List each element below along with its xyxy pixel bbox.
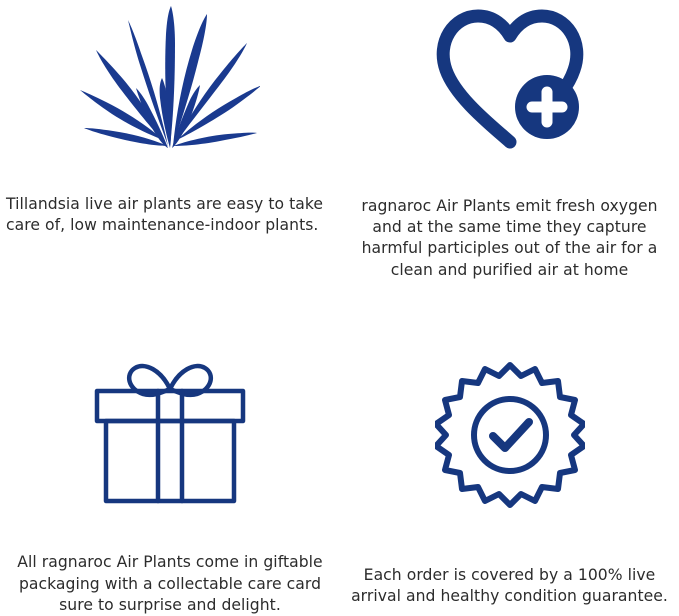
caption-line: sure to surprise and delight. [8, 595, 332, 616]
heart-plus-icon [430, 6, 590, 156]
feature-cell-giftable-packaging: All ragnaroc Air Plants come in giftable… [0, 308, 340, 616]
guarantee-badge-icon-wrap [340, 308, 679, 565]
caption-line: arrival and healthy condition guarantee. [346, 586, 673, 607]
feature-caption-air-plant-care: Tillandsia live air plants are easy to t… [0, 194, 340, 236]
feature-grid: Tillandsia live air plants are easy to t… [0, 0, 679, 616]
gift-box-icon-wrap [0, 308, 340, 552]
gift-body [106, 421, 234, 501]
feature-cell-live-arrival-guarantee: Each order is covered by a 100% live arr… [340, 308, 679, 616]
caption-line: clean and purified air at home [342, 260, 677, 281]
air-plant-icon [80, 4, 260, 154]
caption-line: harmful participles out of the air for a [342, 238, 677, 259]
caption-line: All ragnaroc Air Plants come in giftable [8, 552, 332, 573]
feature-cell-air-plant-care: Tillandsia live air plants are easy to t… [0, 0, 340, 308]
caption-line: Tillandsia live air plants are easy to t… [6, 194, 334, 215]
heart-plus-icon-wrap [340, 0, 679, 196]
rosette-outline [436, 365, 584, 505]
gift-lid [97, 391, 243, 421]
feature-cell-fresh-oxygen: ragnaroc Air Plants emit fresh oxygen an… [340, 0, 679, 308]
feature-caption-fresh-oxygen: ragnaroc Air Plants emit fresh oxygen an… [340, 196, 679, 281]
feature-caption-live-arrival-guarantee: Each order is covered by a 100% live arr… [340, 565, 679, 607]
badge-inner-circle [474, 399, 546, 471]
check-icon [493, 422, 529, 448]
gift-box-icon [87, 356, 253, 506]
guarantee-badge-icon [435, 360, 585, 510]
feature-caption-giftable-packaging: All ragnaroc Air Plants come in giftable… [0, 552, 340, 616]
caption-line: ragnaroc Air Plants emit fresh oxygen [342, 196, 677, 217]
caption-line: and at the same time they capture [342, 217, 677, 238]
caption-line: care of, low maintenance-indoor plants. [6, 215, 334, 236]
caption-line: Each order is covered by a 100% live [346, 565, 673, 586]
caption-line: packaging with a collectable care card [8, 574, 332, 595]
air-plant-icon-wrap [0, 0, 340, 194]
